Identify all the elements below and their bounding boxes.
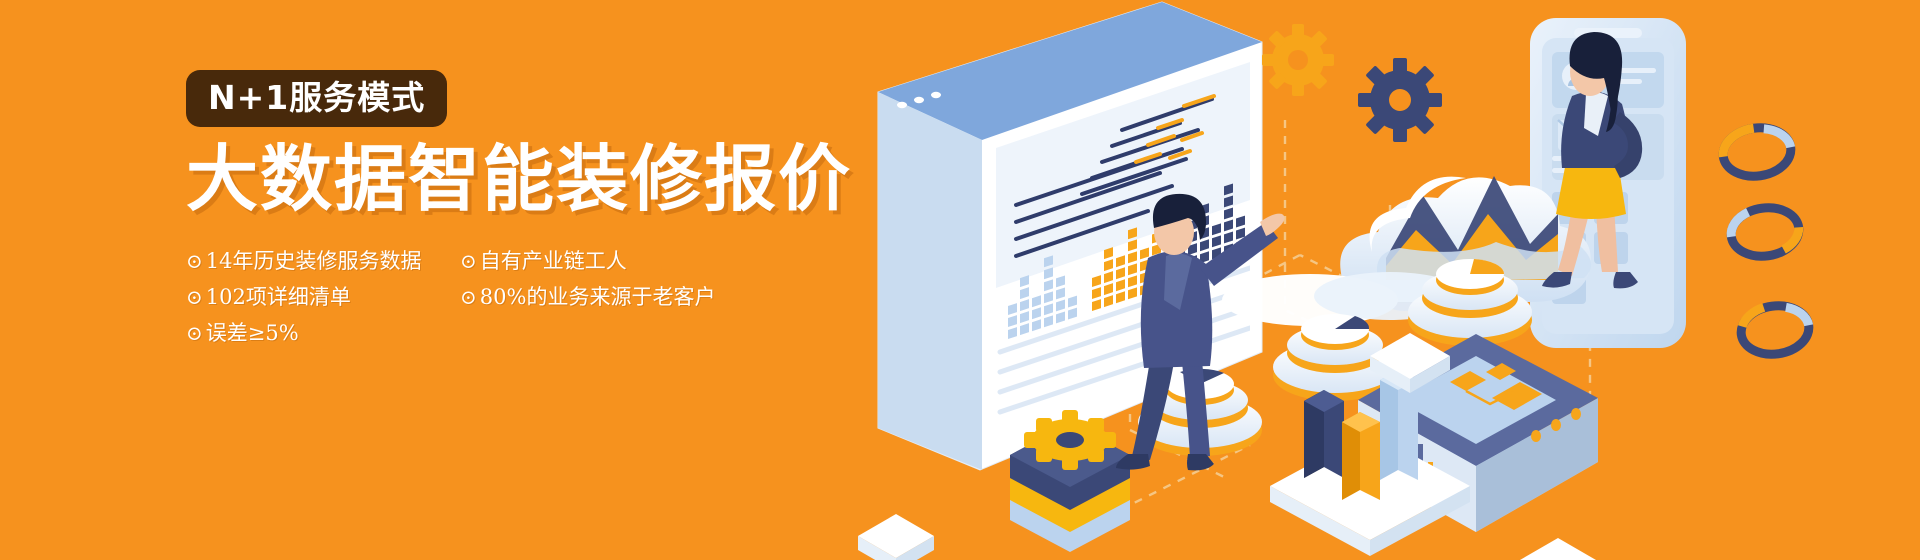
feature-item: ⊙自有产业链工人 [460, 251, 846, 272]
service-model-badge: N+1服务模式 [186, 70, 447, 127]
feature-label: 102项详细清单 [206, 285, 351, 309]
feature-item: ⊙102项详细清单 [186, 287, 444, 308]
bar-navy [1304, 390, 1344, 478]
circled-dot-icon: ⊙ [186, 287, 203, 307]
feature-item: ⊙80%的业务来源于老客户 [460, 287, 846, 308]
feature-item: ⊙误差≥5% [186, 323, 444, 344]
promo-banner: N+1服务模式 大数据智能装修报价 ⊙14年历史装修服务数据 ⊙102项详细清单… [0, 0, 1920, 560]
circled-dot-icon: ⊙ [186, 251, 203, 271]
floating-tile-1 [858, 514, 934, 560]
floating-tile-2 [1520, 538, 1596, 560]
circled-dot-icon: ⊙ [460, 251, 477, 271]
gear-orange-small-icon [1024, 410, 1116, 470]
feature-item: ⊙14年历史装修服务数据 [186, 251, 444, 272]
feature-label: 80%的业务来源于老客户 [480, 285, 716, 309]
circled-dot-icon: ⊙ [186, 323, 203, 343]
feature-label: 自有产业链工人 [480, 249, 627, 273]
ring-donut-3 [1738, 302, 1812, 359]
isometric-illustration [830, 0, 1920, 560]
gear-orange-icon [1262, 24, 1334, 96]
bar-orange [1342, 412, 1380, 500]
ring-donut-1 [1720, 124, 1794, 181]
feature-label: 误差≥5% [206, 321, 299, 345]
page-title: 大数据智能装修报价 [186, 141, 846, 217]
circled-dot-icon: ⊙ [460, 287, 477, 307]
ring-donut-2 [1728, 204, 1802, 261]
feature-label: 14年历史装修服务数据 [206, 249, 422, 273]
banner-copy: N+1服务模式 大数据智能装修报价 ⊙14年历史装修服务数据 ⊙102项详细清单… [186, 70, 846, 351]
gear-navy-icon [1358, 58, 1442, 142]
feature-list: ⊙14年历史装修服务数据 ⊙102项详细清单 ⊙误差≥5% ⊙自有产业链工人 ⊙… [186, 243, 846, 351]
